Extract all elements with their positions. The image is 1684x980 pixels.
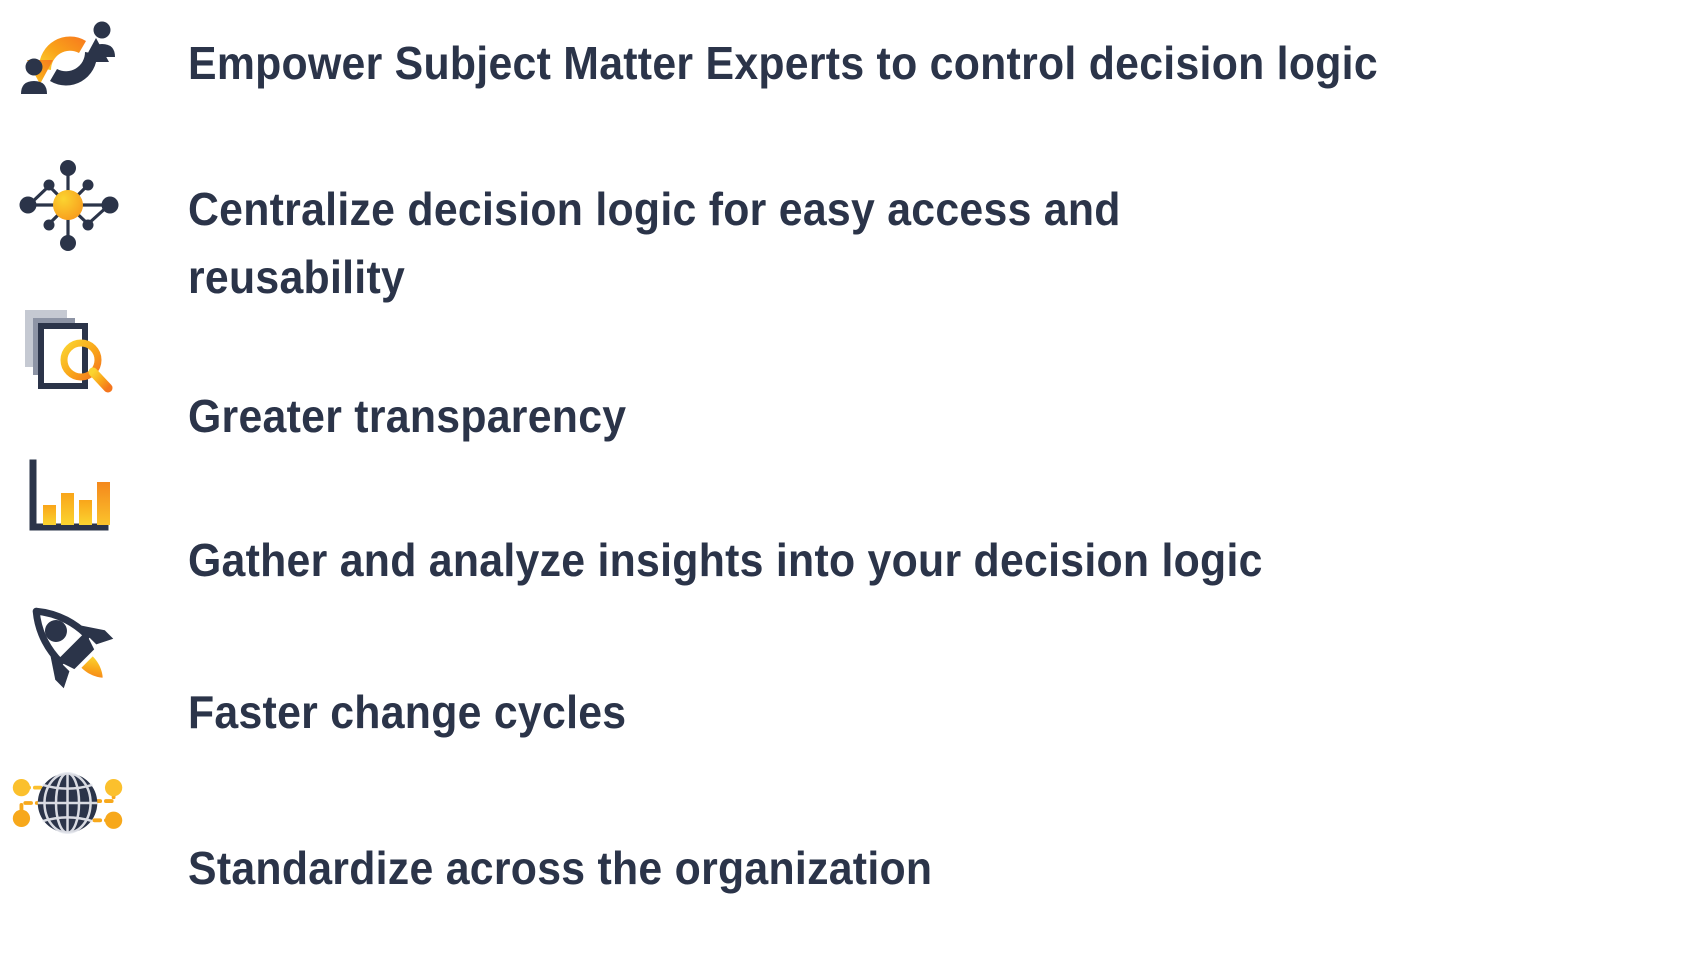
- benefit-text-centralize-logic: Centralize decision logic for easy acces…: [188, 175, 1121, 311]
- document-search-icon: [8, 295, 128, 405]
- rocket-icon: [8, 588, 128, 698]
- benefit-text-standardize-org: Standardize across the organization: [188, 834, 932, 902]
- globe-network-icon: [8, 748, 128, 858]
- benefit-text-empower-sme: Empower Subject Matter Experts to contro…: [188, 29, 1378, 97]
- benefits-board: Empower Subject Matter Experts to contro…: [0, 0, 1684, 980]
- benefit-text-faster-change-cycles: Faster change cycles: [188, 678, 626, 746]
- benefit-text-greater-transparency: Greater transparency: [188, 382, 626, 450]
- network-hub-icon: [8, 150, 128, 260]
- benefit-text-gather-insights: Gather and analyze insights into your de…: [188, 526, 1263, 594]
- bar-chart-icon: [8, 440, 128, 550]
- people-cycle-icon: [8, 5, 128, 115]
